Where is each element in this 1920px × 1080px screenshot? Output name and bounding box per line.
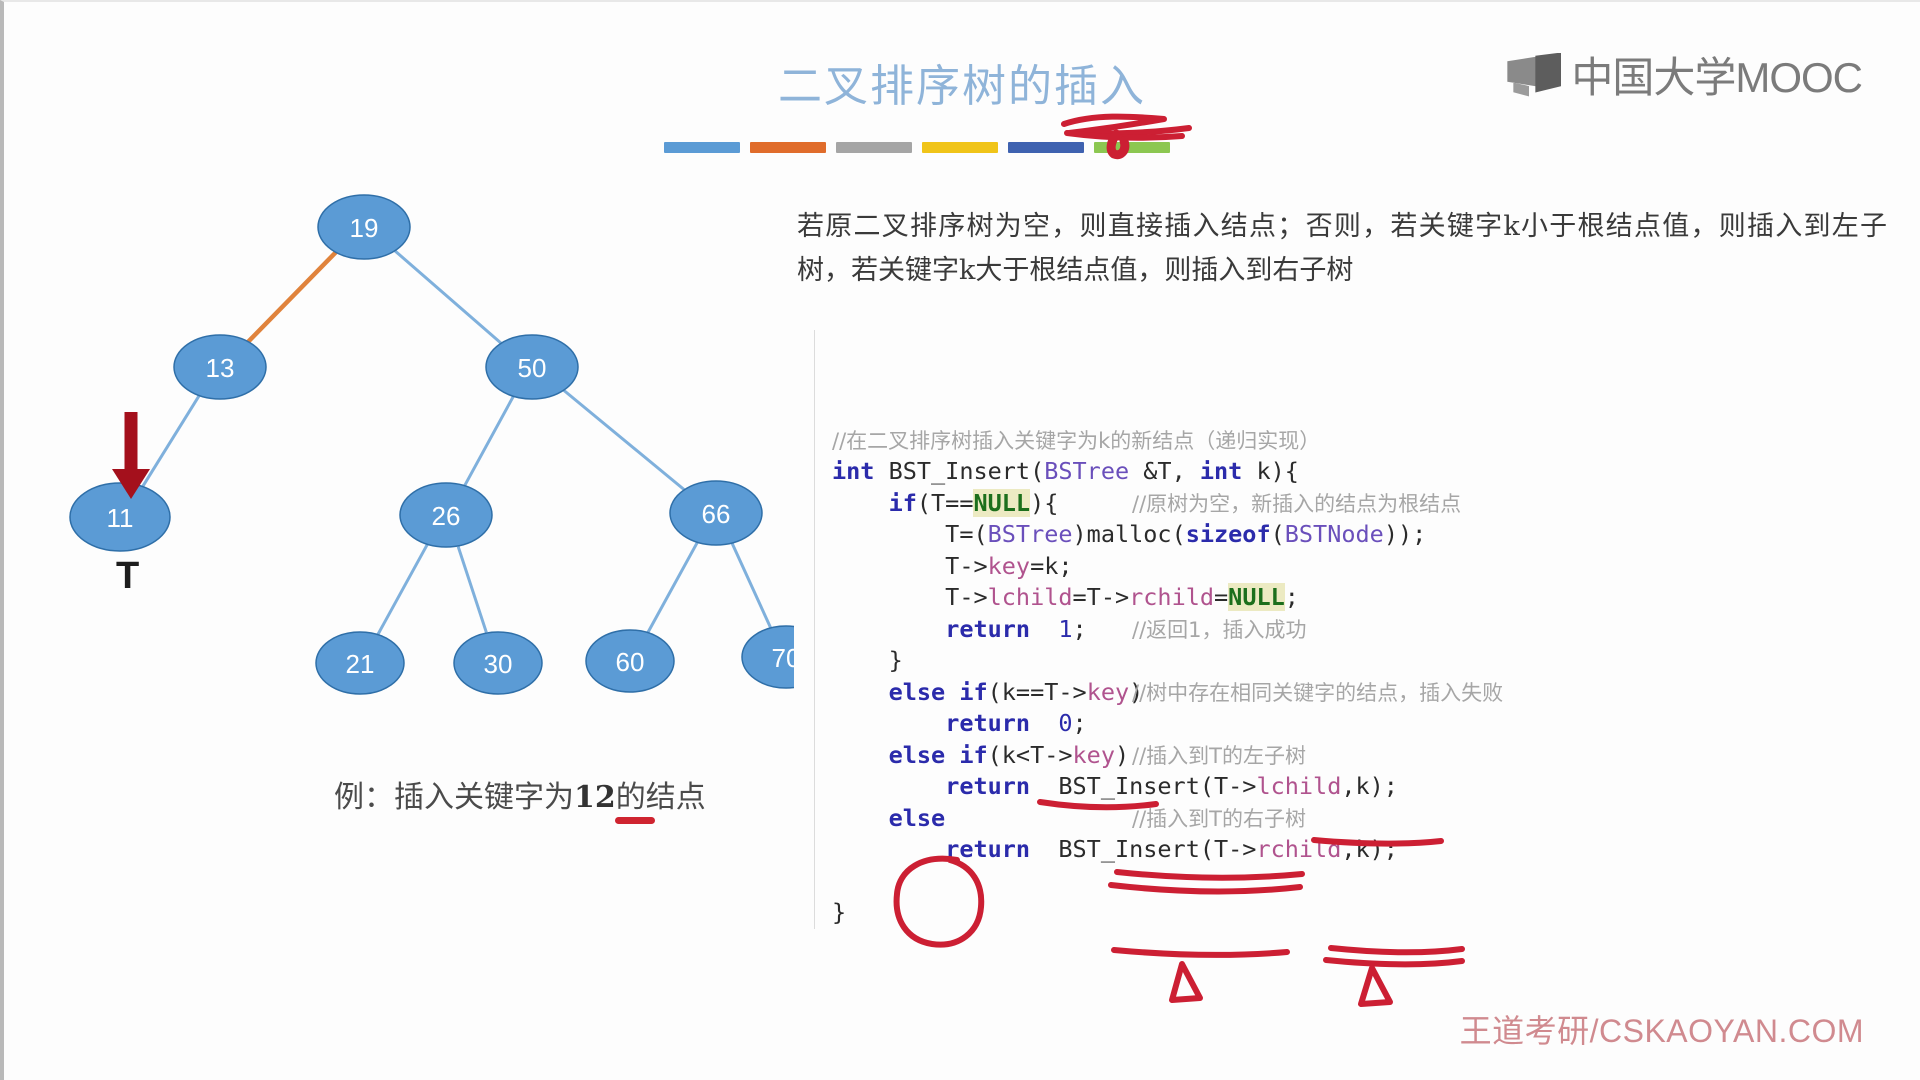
code-token <box>832 804 889 832</box>
code-token: ( <box>1271 520 1285 548</box>
code-comment: //插入到T的左子树 <box>1132 741 1306 773</box>
tree-svg: 19135011266621306070 <box>34 187 794 827</box>
code-token: ){ <box>1030 489 1058 517</box>
code-token: return <box>945 835 1030 863</box>
tree-edge-n13-n11 <box>142 395 199 487</box>
code-token: if <box>889 489 917 517</box>
code-token: (k==T-> <box>988 678 1087 706</box>
code-line-l12: return BST_Insert(T->lchild,k); <box>832 771 1892 803</box>
code-token: int <box>1200 457 1242 485</box>
color-bar-6 <box>1094 142 1170 153</box>
color-bar-1 <box>664 142 740 153</box>
book-icon <box>1507 53 1561 97</box>
return-rchild-underline-ink-3 <box>1326 960 1462 964</box>
tree-node-11[interactable]: 11 <box>70 483 170 551</box>
code-token: T=( <box>832 520 988 548</box>
code-token <box>832 709 945 737</box>
tree-node-label: 21 <box>346 649 375 679</box>
return-rchild-underline-ink <box>1114 950 1287 955</box>
code-token: } <box>832 646 903 674</box>
code-token: NULL <box>1228 583 1285 611</box>
tree-node-label: 70 <box>772 643 794 673</box>
code-token: BSTree <box>1044 457 1129 485</box>
code-token: (k<T-> <box>988 741 1073 769</box>
bst-tree-diagram: 19135011266621306070 T <box>34 187 794 827</box>
code-block: //在二叉排序树插入关键字为k的新结点（递归实现）int BST_Insert(… <box>832 330 1892 929</box>
code-indent-rail <box>814 330 815 929</box>
code-token: ; <box>1285 583 1299 611</box>
code-token: )); <box>1384 520 1426 548</box>
code-comment: //插入到T的右子树 <box>1132 804 1306 836</box>
footer-watermark: 王道考研/CSKAOYAN.COM <box>1460 1006 1864 1052</box>
title-color-bars <box>664 142 1170 153</box>
tree-node-66[interactable]: 66 <box>670 481 762 545</box>
tree-edge-n66-n60 <box>648 542 698 633</box>
mooc-logo-text: 中国大学MOOC <box>1571 44 1862 105</box>
color-bar-3 <box>836 142 912 153</box>
code-token <box>1030 615 1058 643</box>
code-token: int <box>832 457 889 485</box>
code-token: 1 <box>1058 615 1072 643</box>
code-line-l15 <box>832 866 1892 898</box>
code-token <box>832 772 945 800</box>
code-token: ,k); <box>1341 772 1398 800</box>
tree-node-label: 60 <box>616 647 645 677</box>
code-token: key <box>1073 741 1115 769</box>
code-line-l1: //在二叉排序树插入关键字为k的新结点（递归实现） <box>832 425 1892 457</box>
title-scribble-ink <box>1064 117 1189 134</box>
code-token: sizeof <box>1186 520 1271 548</box>
t-pointer-label: T <box>116 555 139 598</box>
tree-edge-n26-n21 <box>378 544 428 635</box>
tree-node-label: 19 <box>350 213 379 243</box>
code-token: ; <box>1073 709 1087 737</box>
code-token: BSTNode <box>1285 520 1384 548</box>
tree-caption-suffix: 的结点 <box>616 780 706 815</box>
code-token: =T-> <box>1073 583 1130 611</box>
code-token: else if <box>889 678 988 706</box>
code-line-l7: return 1;//返回1，插入成功 <box>832 614 1892 646</box>
return-rchild-underline-ink-2 <box>1331 948 1462 952</box>
code-token: BSTree <box>988 520 1073 548</box>
code-line-l5: T->key=k; <box>832 551 1892 583</box>
code-line-l13: else//插入到T的右子树 <box>832 803 1892 835</box>
tree-edge-n26-n30 <box>458 547 486 633</box>
code-token: } <box>832 898 846 926</box>
check-mark-left-ink <box>1172 964 1200 1000</box>
tree-node-label: 30 <box>484 649 513 679</box>
code-token <box>832 615 945 643</box>
tree-edge-n50-n66 <box>561 388 687 492</box>
code-token: ; <box>1073 615 1087 643</box>
code-token: //在二叉排序树插入关键字为k的新结点（递归实现） <box>832 429 1320 453</box>
tree-caption-prefix: 例：插入关键字为 <box>334 780 574 815</box>
code-line-l11: else if(k<T->key)//插入到T的左子树 <box>832 740 1892 772</box>
tree-caption: 例：插入关键字为12的结点 <box>334 772 706 816</box>
code-line-l9: else if(k==T->key)//树中存在相同关键字的结点，插入失败 <box>832 677 1892 709</box>
tree-caption-key: 12 <box>574 780 616 815</box>
code-line-l3: if(T==NULL){//原树为空，新插入的结点为根结点 <box>832 488 1892 520</box>
code-token: else if <box>889 741 988 769</box>
code-token: key <box>988 552 1030 580</box>
code-comment: //树中存在相同关键字的结点，插入失败 <box>1132 678 1503 710</box>
slide-canvas: 二叉排序树的插入 中国大学MOOC 若原二叉排序树为空，则直接插入结点；否则，若… <box>0 0 1920 1080</box>
tree-node-label: 11 <box>107 503 134 533</box>
code-token <box>1030 709 1058 737</box>
code-comment: //原树为空，新插入的结点为根结点 <box>1132 489 1461 521</box>
code-token <box>832 678 889 706</box>
tree-edges <box>142 249 770 635</box>
tree-node-50[interactable]: 50 <box>486 335 578 399</box>
code-token: BST_Insert(T-> <box>1030 835 1256 863</box>
code-token <box>832 489 889 517</box>
code-line-l16: } <box>832 897 1892 929</box>
tree-node-19[interactable]: 19 <box>318 195 410 259</box>
code-token: return <box>945 709 1030 737</box>
code-token: NULL <box>973 489 1030 517</box>
code-line-l4: T=(BSTree)malloc(sizeof(BSTNode)); <box>832 519 1892 551</box>
code-token: key <box>1087 678 1129 706</box>
mooc-logo: 中国大学MOOC <box>1507 44 1862 105</box>
code-token: T-> <box>832 552 988 580</box>
code-token: BST_Insert(T-> <box>1030 772 1256 800</box>
color-bar-2 <box>750 142 826 153</box>
tree-edge-n66-n70 <box>732 543 771 628</box>
tree-nodes: 19135011266621306070 <box>70 195 794 694</box>
code-line-l2: int BST_Insert(BSTree &T, int k){ <box>832 456 1892 488</box>
color-bar-5 <box>1008 142 1084 153</box>
title-scribble-ink-2 <box>1067 133 1182 138</box>
code-token: rchild <box>1129 583 1214 611</box>
color-bar-4 <box>922 142 998 153</box>
code-token: rchild <box>1256 835 1341 863</box>
tree-node-label: 13 <box>206 353 235 383</box>
tree-node-30[interactable]: 30 <box>454 632 542 694</box>
code-token: return <box>945 772 1030 800</box>
code-token <box>832 835 945 863</box>
tree-edge-n50-n26 <box>464 396 513 486</box>
tree-node-26[interactable]: 26 <box>400 483 492 547</box>
tree-node-13[interactable]: 13 <box>174 335 266 399</box>
tree-edge-n19-n50 <box>392 249 503 346</box>
tree-node-label: 50 <box>518 353 547 383</box>
caption-12-underline-ink <box>615 817 655 824</box>
code-token: (T== <box>917 489 974 517</box>
code-token: &T, <box>1129 457 1200 485</box>
code-token: return <box>945 615 1030 643</box>
tree-node-label: 66 <box>702 499 731 529</box>
code-line-l6: T->lchild=T->rchild=NULL; <box>832 582 1892 614</box>
code-token <box>832 741 889 769</box>
code-token: BST_Insert( <box>889 457 1045 485</box>
code-token: )malloc( <box>1073 520 1186 548</box>
code-token: lchild <box>988 583 1073 611</box>
code-token: lchild <box>1256 772 1341 800</box>
code-token: else <box>889 804 946 832</box>
check-mark-right-ink <box>1361 968 1390 1004</box>
tree-node-70[interactable]: 70 <box>742 626 794 688</box>
code-line-l8: } <box>832 645 1892 677</box>
code-line-l14: return BST_Insert(T->rchild,k); <box>832 834 1892 866</box>
description-paragraph: 若原二叉排序树为空，则直接插入结点；否则，若关键字k小于根结点值，则插入到左子树… <box>797 205 1887 293</box>
tree-node-21[interactable]: 21 <box>316 632 404 694</box>
code-token: k){ <box>1242 457 1299 485</box>
code-line-l10: return 0; <box>832 708 1892 740</box>
code-token: T-> <box>832 583 988 611</box>
code-token: =k; <box>1030 552 1072 580</box>
code-token: = <box>1214 583 1228 611</box>
code-token: ,k); <box>1341 835 1398 863</box>
tree-node-60[interactable]: 60 <box>586 630 674 692</box>
code-token: ) <box>1115 741 1129 769</box>
tree-edge-n19-n13 <box>246 250 337 343</box>
code-token: 0 <box>1058 709 1072 737</box>
tree-node-label: 26 <box>432 501 461 531</box>
code-comment: //返回1，插入成功 <box>1132 615 1307 647</box>
